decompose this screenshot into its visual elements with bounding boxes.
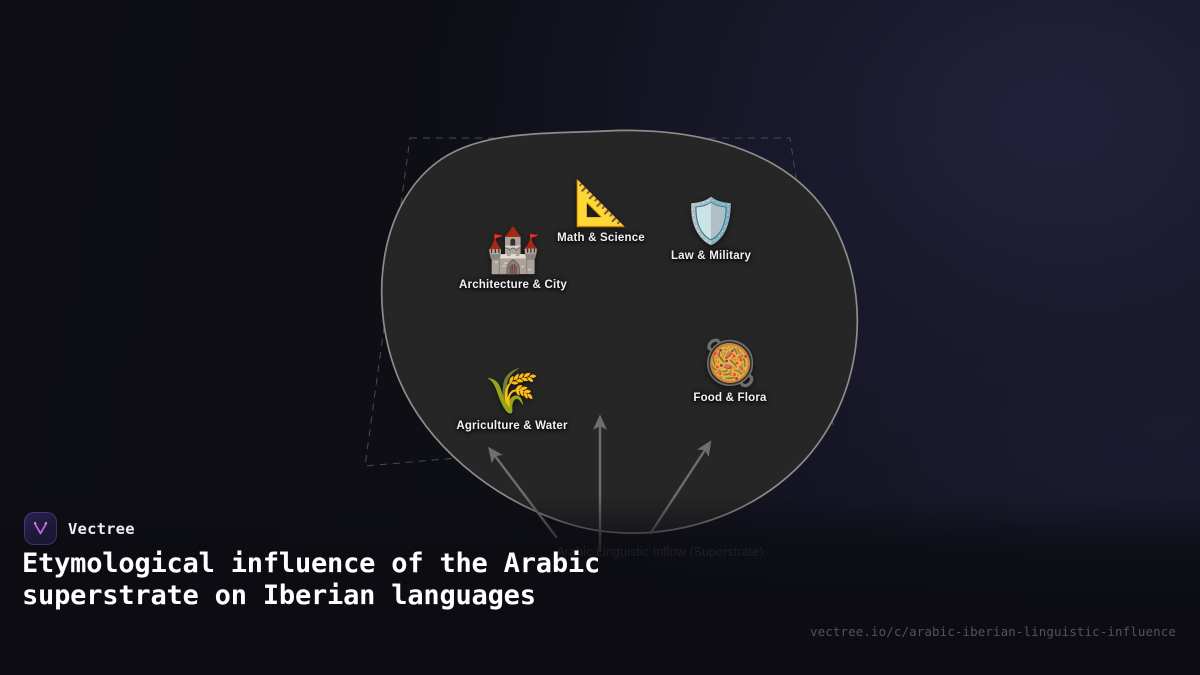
page-title: Etymological influence of the Arabic sup… (22, 548, 702, 612)
node-label-agriculture-water: Agriculture & Water (456, 420, 567, 432)
brand-name: Vectree (68, 520, 135, 538)
castle-icon: 🏰 (459, 229, 567, 273)
node-architecture-city[interactable]: 🏰 Architecture & City (459, 229, 567, 291)
shield-icon: 🛡️ (671, 200, 751, 244)
node-label-architecture-city: Architecture & City (459, 279, 567, 291)
node-law-military[interactable]: 🛡️ Law & Military (671, 200, 751, 262)
node-label-math-science: Math & Science (557, 232, 645, 244)
node-label-law-military: Law & Military (671, 250, 751, 262)
node-food-flora[interactable]: 🥘 Food & Flora (693, 342, 766, 404)
infographic-canvas: Arabic Linguistic Inflow (Superstrate) 📐… (0, 0, 1200, 675)
vectree-v-logo-icon (24, 512, 57, 545)
page-url: vectree.io/c/arabic-iberian-linguistic-i… (810, 624, 1176, 639)
paella-icon: 🥘 (693, 342, 766, 386)
node-math-science[interactable]: 📐 Math & Science (557, 182, 645, 244)
node-agriculture-water[interactable]: 🌾 Agriculture & Water (456, 370, 567, 432)
node-label-food-flora: Food & Flora (693, 392, 766, 404)
brand-lockup[interactable]: Vectree (24, 512, 135, 545)
triangular-ruler-icon: 📐 (557, 182, 645, 226)
sheaf-of-rice-icon: 🌾 (456, 370, 567, 414)
